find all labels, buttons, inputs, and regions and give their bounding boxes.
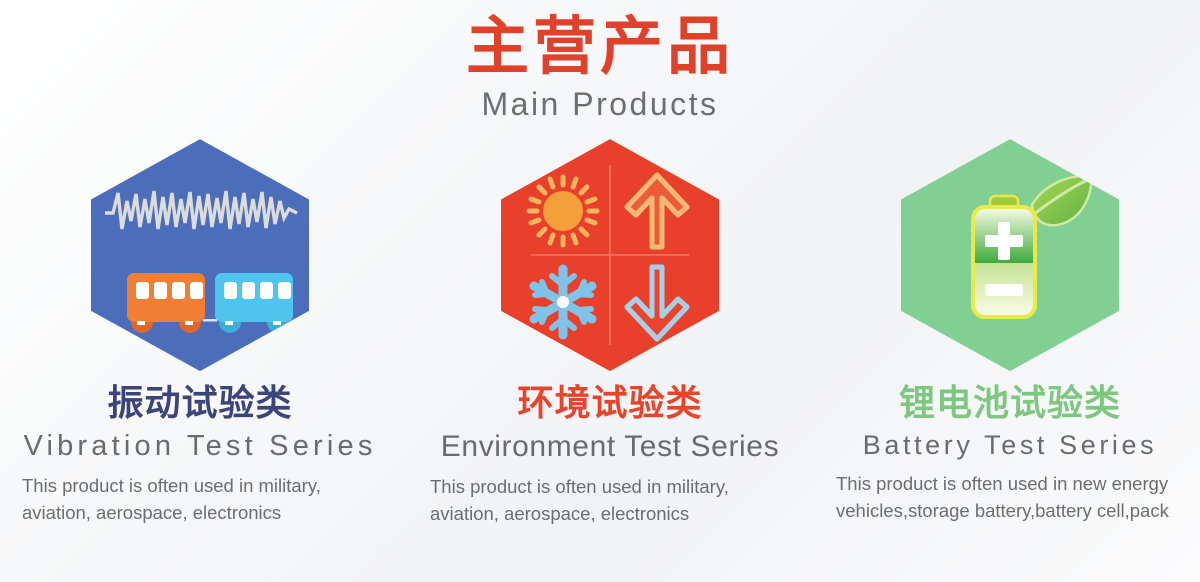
train-car-blue: [215, 273, 293, 333]
product-card-vibration[interactable]: 振动试验类 Vibration Test Series This product…: [0, 139, 400, 527]
battery-leaf-icon: [901, 139, 1119, 371]
hex-icon-wrapper-environment: [400, 139, 820, 371]
climate-quadrant-icon-svg: [501, 139, 719, 371]
arrow-down-icon: [627, 267, 687, 339]
hex-icon-wrapper-battery: [820, 139, 1200, 371]
product-card-list: 振动试验类 Vibration Test Series This product…: [0, 139, 1200, 527]
battery-leaf-icon-svg: [901, 139, 1119, 371]
page-title-en: Main Products: [0, 86, 1200, 123]
card-label-en-battery: Battery Test Series: [820, 430, 1200, 461]
card-label-cn-environment: 环境试验类: [400, 384, 820, 424]
card-label-en-vibration: Vibration Test Series: [0, 430, 400, 463]
waveform-train-icon: [91, 139, 309, 371]
page-header: 主营产品 Main Products: [0, 0, 1200, 123]
card-label-cn-vibration: 振动试验类: [0, 384, 400, 424]
card-label-en-environment: Environment Test Series: [400, 430, 820, 464]
product-card-battery[interactable]: 锂电池试验类 Battery Test Series This product …: [820, 139, 1200, 527]
minus-sign-icon: [985, 284, 1023, 296]
waveform-train-icon-svg: [91, 139, 309, 371]
card-label-cn-battery: 锂电池试验类: [820, 384, 1200, 424]
sun-icon: [529, 177, 597, 245]
product-card-environment[interactable]: 环境试验类 Environment Test Series This produ…: [400, 139, 820, 527]
hex-icon-wrapper-vibration: [0, 139, 400, 371]
waveform-icon: [105, 191, 297, 229]
train-coupler: [203, 319, 217, 322]
climate-quadrant-icon: [501, 139, 719, 371]
page-title-cn: 主营产品: [0, 14, 1200, 80]
card-description-battery: This product is often used in new energy…: [820, 471, 1200, 525]
card-description-environment: This product is often used in military, …: [400, 474, 820, 528]
snowflake-icon: [534, 269, 592, 335]
train-car-orange: [127, 273, 205, 333]
arrow-up-icon: [627, 175, 687, 247]
card-description-vibration: This product is often used in military, …: [0, 473, 400, 527]
